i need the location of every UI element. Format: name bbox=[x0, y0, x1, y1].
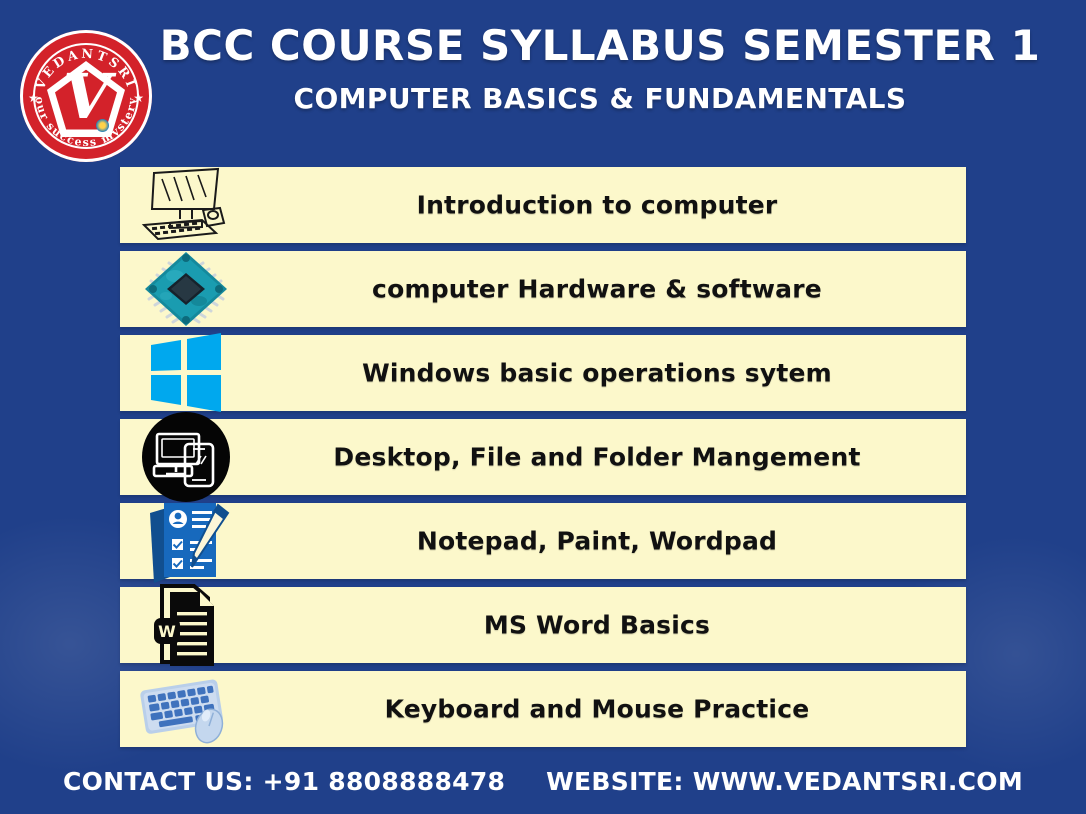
list-item-label: MS Word Basics bbox=[240, 611, 954, 640]
svg-text:W: W bbox=[158, 622, 176, 641]
contact-text: CONTACT US: +91 8808888478 bbox=[63, 767, 505, 796]
list-item-label: Windows basic operations sytem bbox=[240, 359, 954, 388]
page-subtitle: COMPUTER BASICS & FUNDAMENTALS bbox=[150, 82, 1050, 115]
desktop-computer-icon bbox=[138, 162, 234, 248]
list-item-label: Introduction to computer bbox=[240, 191, 954, 220]
list-item[interactable]: Introduction to computer bbox=[120, 167, 966, 243]
vedantsri-logo: VEDANTSRI our success mystery ★ ★ V bbox=[20, 30, 152, 162]
poster-header: VEDANTSRI our success mystery ★ ★ V BCC … bbox=[0, 0, 1086, 160]
list-item[interactable]: computer Hardware & software bbox=[120, 251, 966, 327]
sun-icon bbox=[96, 119, 109, 132]
poster-footer: CONTACT US: +91 8808888478 WEBSITE: WWW.… bbox=[0, 767, 1086, 796]
list-item[interactable]: Notepad, Paint, Wordpad bbox=[120, 503, 966, 579]
list-item-label: computer Hardware & software bbox=[240, 275, 954, 304]
title-block: BCC COURSE SYLLABUS SEMESTER 1 COMPUTER … bbox=[150, 22, 1050, 115]
list-item-label: Keyboard and Mouse Practice bbox=[240, 695, 954, 724]
syllabus-list: Introduction to computer bbox=[120, 167, 966, 755]
website-text: WEBSITE: WWW.VEDANTSRI.COM bbox=[546, 767, 1023, 796]
form-pencil-icon bbox=[138, 498, 234, 584]
windows-logo-icon bbox=[138, 330, 234, 416]
keyboard-mouse-icon bbox=[138, 666, 234, 752]
list-item[interactable]: Windows basic operations sytem bbox=[120, 335, 966, 411]
star-icon: ★ bbox=[133, 92, 144, 104]
syllabus-poster: VEDANTSRI our success mystery ★ ★ V BCC … bbox=[0, 0, 1086, 814]
list-item[interactable]: W MS Word Basics bbox=[120, 587, 966, 663]
list-item-label: Desktop, File and Folder Mangement bbox=[240, 443, 954, 472]
page-title: BCC COURSE SYLLABUS SEMESTER 1 bbox=[150, 22, 1050, 70]
list-item[interactable]: Desktop, File and Folder Mangement bbox=[120, 419, 966, 495]
list-item-label: Notepad, Paint, Wordpad bbox=[240, 527, 954, 556]
devices-circle-icon bbox=[138, 414, 234, 500]
word-document-icon: W bbox=[138, 582, 234, 668]
microchip-icon bbox=[138, 246, 234, 332]
star-icon: ★ bbox=[28, 92, 39, 104]
list-item[interactable]: Keyboard and Mouse Practice bbox=[120, 671, 966, 747]
